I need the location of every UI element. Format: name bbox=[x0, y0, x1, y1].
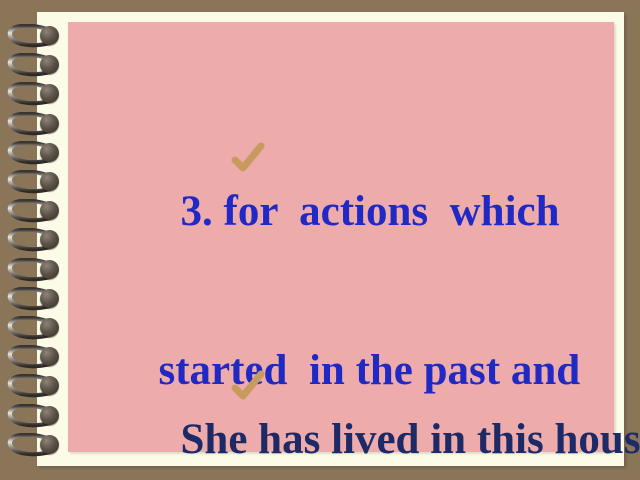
binding-ring-head bbox=[40, 318, 59, 337]
binding-ring bbox=[6, 433, 62, 459]
slide-canvas: 3. for actions which started in the past… bbox=[0, 0, 640, 480]
binding-ring bbox=[6, 53, 62, 79]
bullet-2-line-1: She has lived in this house bbox=[80, 258, 610, 480]
binding-ring bbox=[6, 24, 62, 50]
binding-ring bbox=[6, 228, 62, 254]
binding-ring-head bbox=[40, 435, 59, 454]
binding-ring-head bbox=[40, 172, 59, 191]
binding-ring-head bbox=[40, 289, 59, 308]
check-icon bbox=[145, 83, 179, 117]
binding-ring bbox=[6, 82, 62, 108]
check-icon bbox=[145, 311, 179, 345]
binding-ring bbox=[6, 199, 62, 225]
bullet-1-line-1: 3. for actions which bbox=[80, 30, 610, 291]
binding-ring-head bbox=[40, 260, 59, 279]
binding-ring bbox=[6, 258, 62, 284]
binding-ring bbox=[6, 287, 62, 313]
spiral-binding bbox=[0, 0, 75, 480]
binding-ring bbox=[6, 316, 62, 342]
binding-ring-head bbox=[40, 406, 59, 425]
bullet-1-line-1-text: 3. for actions which bbox=[181, 188, 560, 235]
bullet-2-line-1-text: She has lived in this house bbox=[181, 416, 640, 463]
bullet-block-2: She has lived in this house for two year… bbox=[80, 258, 610, 480]
binding-ring-head bbox=[40, 143, 59, 162]
binding-ring bbox=[6, 141, 62, 167]
binding-ring-head bbox=[40, 114, 59, 133]
binding-ring bbox=[6, 170, 62, 196]
binding-ring bbox=[6, 404, 62, 430]
binding-ring bbox=[6, 374, 62, 400]
binding-ring-head bbox=[40, 26, 59, 45]
binding-ring bbox=[6, 112, 62, 138]
binding-ring bbox=[6, 345, 62, 371]
